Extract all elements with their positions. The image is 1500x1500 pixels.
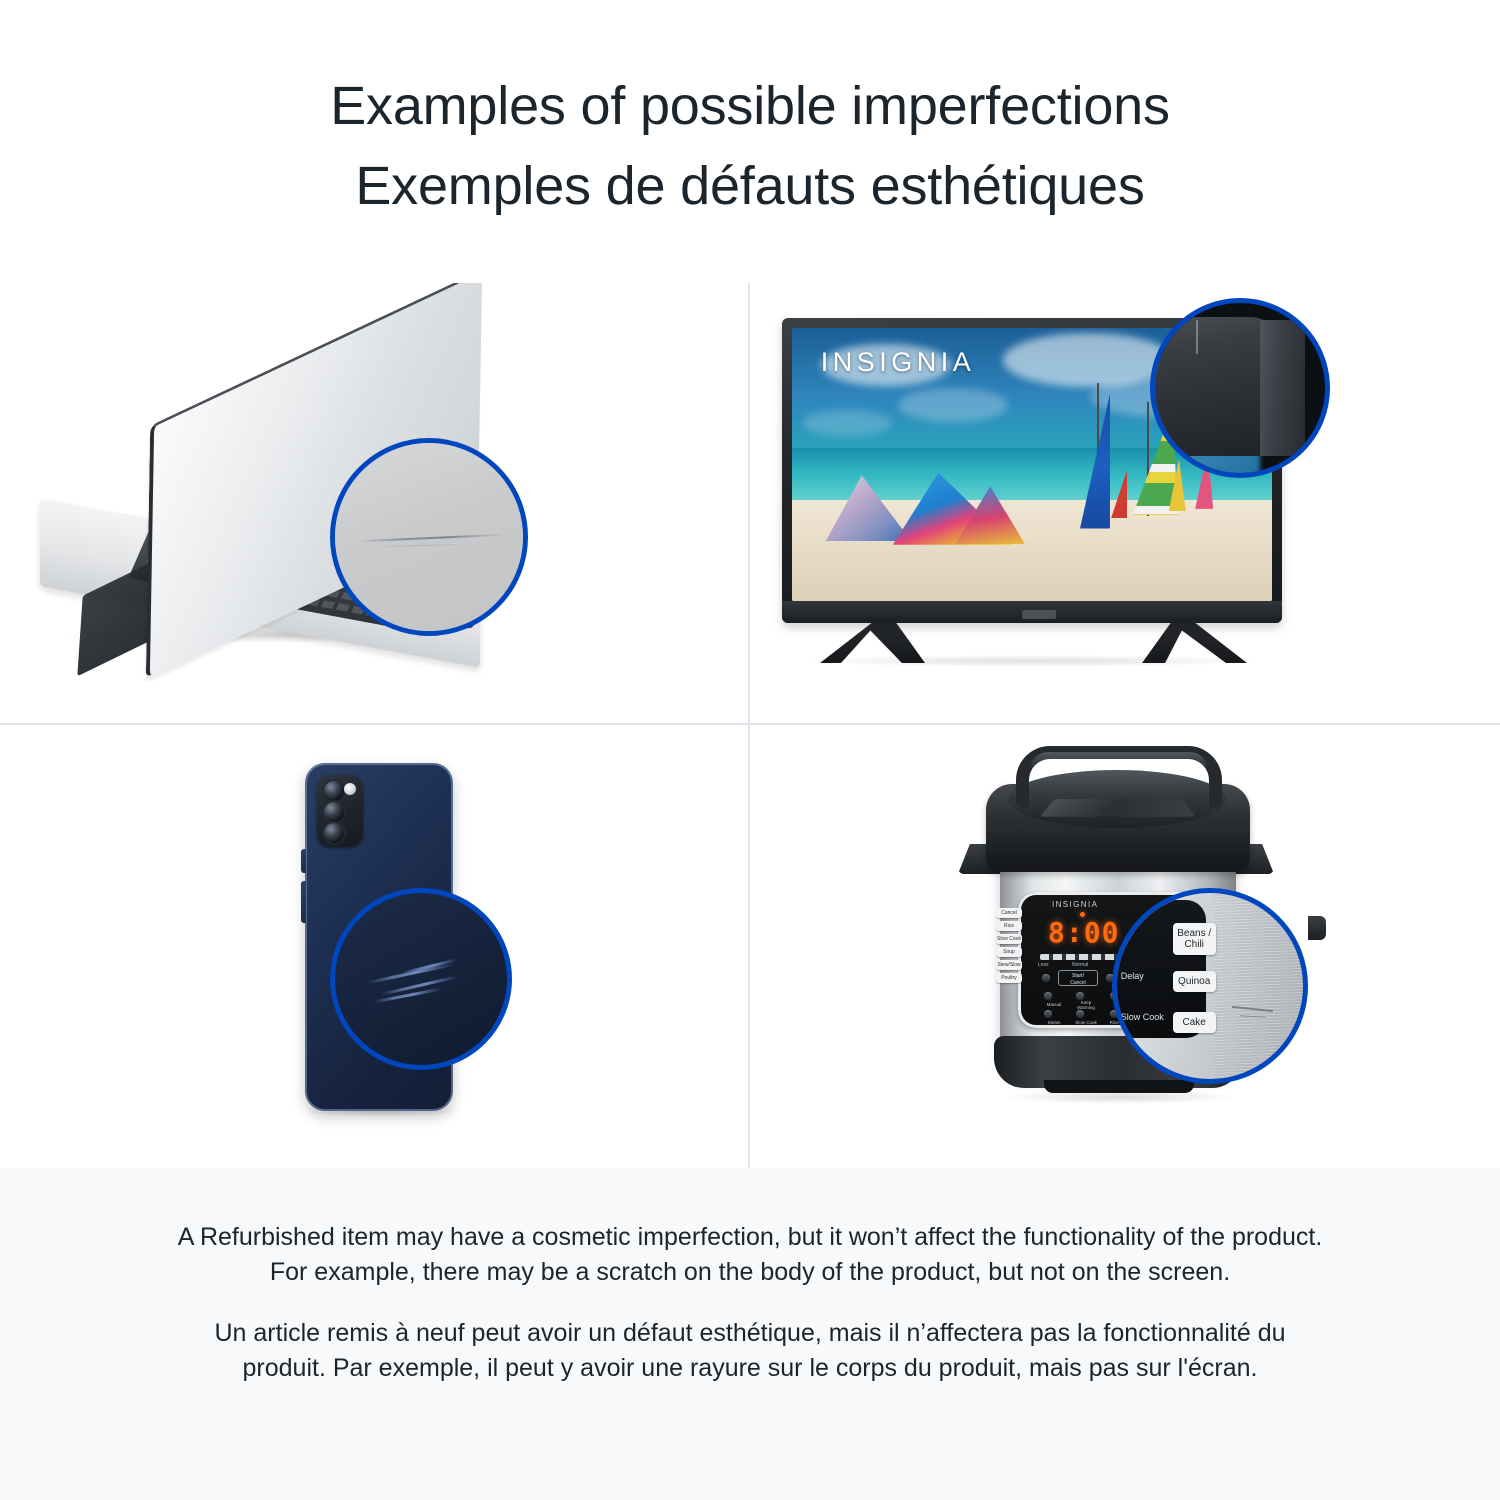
camera-lens-3-icon bbox=[324, 823, 344, 843]
magnifier-circle-tv bbox=[1150, 298, 1330, 478]
progress-label-normal: Normal bbox=[1072, 962, 1088, 968]
cooker-button-soup[interactable]: Soup bbox=[996, 947, 1022, 957]
infographic-page: Examples of possible imperfections Exemp… bbox=[0, 0, 1500, 1500]
phone-illustration bbox=[275, 753, 495, 1143]
cooker-button-slowcook[interactable]: Slow Cook bbox=[996, 934, 1022, 944]
tv-brand-plate bbox=[1022, 610, 1056, 619]
phone-volume-button bbox=[301, 849, 306, 873]
scratch-mark-3 bbox=[373, 988, 441, 1004]
tv-screen-logo: INSIGNIA bbox=[821, 347, 976, 378]
title-line-english: Examples of possible imperfections bbox=[0, 66, 1500, 146]
cooker-left-button-column: Cancel Rice Slow Cook Soup Stew/Slow Pou… bbox=[996, 908, 1022, 986]
tv-bezel-side-zoom bbox=[1260, 320, 1304, 456]
zoom-button-cake[interactable]: Cake bbox=[1173, 1012, 1216, 1033]
panel-television: INSIGNIA bbox=[752, 283, 1500, 723]
cooker-manual-button[interactable] bbox=[1044, 992, 1052, 1000]
tv-bottom-bezel bbox=[782, 601, 1282, 623]
footer-paragraph-french: Un article remis à neuf peut avoir un dé… bbox=[175, 1316, 1325, 1386]
tv-shadow bbox=[802, 655, 1262, 667]
title-line-french: Exemples de défauts esthétiques bbox=[0, 146, 1500, 226]
cooker-brand-label: INSIGNIA bbox=[1052, 900, 1098, 909]
grid-divider-vertical bbox=[748, 283, 750, 1168]
product-examples-grid: INSIGNIA bbox=[0, 283, 1500, 1168]
cooker-button-cancel[interactable]: Cancel bbox=[996, 908, 1022, 918]
cooker-handle-highlight bbox=[1030, 752, 1208, 770]
panel-pressure-cooker: INSIGNIA 8:00 Less Normal More Start/Can… bbox=[752, 725, 1500, 1168]
panel-smartphone bbox=[0, 725, 748, 1168]
zoom-label-delay: Delay bbox=[1121, 971, 1144, 981]
camera-flash-icon bbox=[344, 783, 356, 795]
cooker-button-poultry[interactable]: Poultry bbox=[996, 973, 1022, 983]
zoom-button-quinoa[interactable]: Quinoa bbox=[1173, 971, 1216, 992]
cooker-illustration: INSIGNIA 8:00 Less Normal More Start/Can… bbox=[952, 740, 1312, 1140]
zoom-label-slowcook: Slow Cook bbox=[1121, 1012, 1164, 1022]
cooker-slowcook-button[interactable] bbox=[1076, 1010, 1084, 1018]
cooker-label-keepwarm: Keep Warming bbox=[1072, 1000, 1100, 1010]
cooker-keepwarm-button[interactable] bbox=[1076, 992, 1084, 1000]
tv-bezel-corner-zoom bbox=[1150, 317, 1277, 456]
cooker-label-steam: Steam bbox=[1040, 1020, 1068, 1025]
tv-illustration: INSIGNIA bbox=[772, 303, 1332, 673]
magnifier-circle-phone bbox=[330, 888, 512, 1070]
scuff-mark-tv bbox=[1196, 320, 1198, 354]
cooker-label-slowcook: Slow Cook bbox=[1072, 1020, 1100, 1025]
cooker-steam-button[interactable] bbox=[1044, 1010, 1052, 1018]
page-title: Examples of possible imperfections Exemp… bbox=[0, 66, 1500, 226]
camera-lens-2-icon bbox=[324, 802, 344, 822]
cooker-brushed-steel-zoom bbox=[1214, 893, 1303, 1079]
progress-label-less: Less bbox=[1038, 962, 1049, 968]
panel-laptop bbox=[0, 283, 748, 723]
zoom-button-beanschili[interactable]: Beans / Chili bbox=[1173, 923, 1216, 955]
cooker-steam-vent bbox=[1308, 916, 1326, 940]
cooker-button-stew[interactable]: Stew/Slow bbox=[996, 960, 1022, 970]
cooker-feet bbox=[1044, 1080, 1194, 1093]
laptop-illustration bbox=[30, 343, 590, 673]
cooker-display-time: 8:00 bbox=[1048, 918, 1126, 948]
magnifier-circle-laptop bbox=[330, 438, 528, 636]
camera-module-icon bbox=[317, 775, 363, 847]
phone-power-button bbox=[301, 881, 306, 923]
footer-paragraph-english: A Refurbished item may have a cosmetic i… bbox=[175, 1220, 1325, 1290]
cooker-label-manual: Manual bbox=[1040, 1002, 1068, 1007]
camera-lens-1-icon bbox=[324, 781, 344, 801]
cooker-start-cancel-button[interactable]: Start/Cancel bbox=[1058, 970, 1098, 986]
magnifier-circle-cooker: Delay Slow Cook Beans / Chili Quinoa Cak… bbox=[1112, 888, 1308, 1084]
cooker-minus-button[interactable] bbox=[1042, 974, 1050, 982]
footer-section: A Refurbished item may have a cosmetic i… bbox=[0, 1168, 1500, 1500]
cooker-button-rice[interactable]: Rice bbox=[996, 921, 1022, 931]
